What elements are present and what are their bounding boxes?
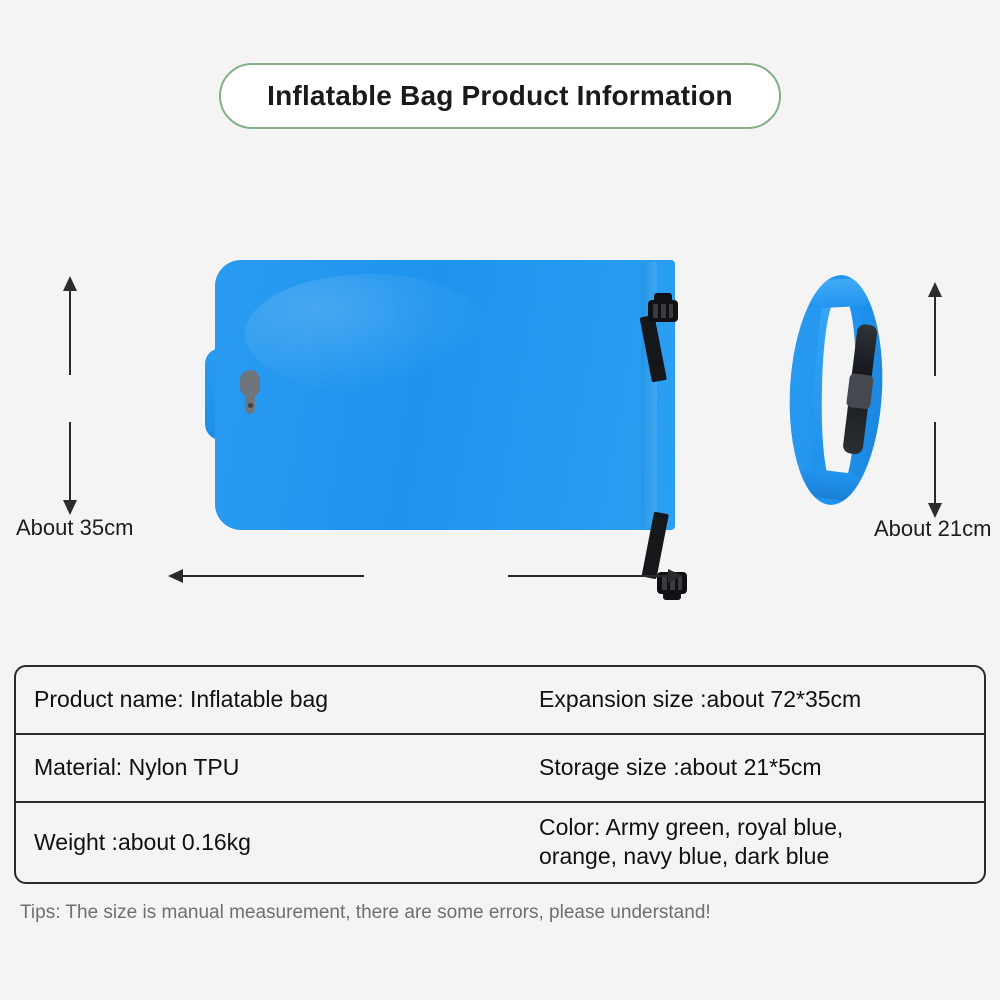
dimension-label-height-left: About 35cm: [16, 515, 133, 541]
spec-color: Color: Army green, royal blue, orange, n…: [539, 803, 984, 882]
arrow-line-right: [508, 575, 669, 577]
inflatable-bag-rolled-image: [790, 275, 882, 505]
buckle-prongs: [653, 304, 673, 318]
arrow-line-upper: [934, 296, 936, 376]
bag-highlight: [245, 274, 495, 394]
arrow-head-down: [63, 500, 77, 515]
arrow-line-upper: [69, 290, 71, 375]
arrow-head-up: [928, 282, 942, 297]
arrow-line-lower: [69, 422, 71, 502]
rolled-bag-buckle: [846, 373, 874, 410]
spec-color-line1: Color: Army green, royal blue,: [539, 813, 984, 842]
bag-buckle-top: [648, 300, 678, 322]
bag-body: [215, 260, 675, 530]
arrow-head-left: [168, 569, 183, 583]
arrow-line-lower: [934, 422, 936, 505]
specification-table: Product name: Inflatable bag Expansion s…: [14, 665, 986, 884]
page-title: Inflatable Bag Product Information: [267, 80, 733, 112]
table-row: Product name: Inflatable bag Expansion s…: [16, 667, 984, 735]
arrow-head-right: [668, 569, 683, 583]
spec-color-line2: orange, navy blue, dark blue: [539, 842, 984, 871]
rolled-bag-bottom-roll: [794, 467, 863, 503]
tips-note: Tips: The size is manual measurement, th…: [20, 902, 711, 924]
valve-stem: [245, 390, 255, 414]
rolled-bag-top-roll: [806, 277, 873, 308]
inflatable-bag-flat-image: [205, 260, 675, 530]
arrow-head-up: [63, 276, 77, 291]
spec-weight: Weight :about 0.16kg: [16, 818, 539, 867]
spec-product-name: Product name: Inflatable bag: [16, 675, 539, 724]
dimension-label-height-right: About 21cm: [874, 516, 991, 542]
arrow-line-left: [182, 575, 364, 577]
spec-expansion-size: Expansion size :about 72*35cm: [539, 675, 984, 724]
product-illustration: About 35cm About 72cm About 21cm Storage: [0, 150, 1000, 640]
table-row: Weight :about 0.16kg Color: Army green, …: [16, 803, 984, 882]
spec-storage-size: Storage size :about 21*5cm: [539, 743, 984, 792]
valve-hole: [248, 403, 253, 408]
table-row: Material: Nylon TPU Storage size :about …: [16, 735, 984, 803]
page-title-pill: Inflatable Bag Product Information: [219, 63, 781, 129]
rolled-bag-body: [784, 273, 888, 507]
spec-material: Material: Nylon TPU: [16, 743, 539, 792]
air-valve-icon: [239, 370, 261, 418]
